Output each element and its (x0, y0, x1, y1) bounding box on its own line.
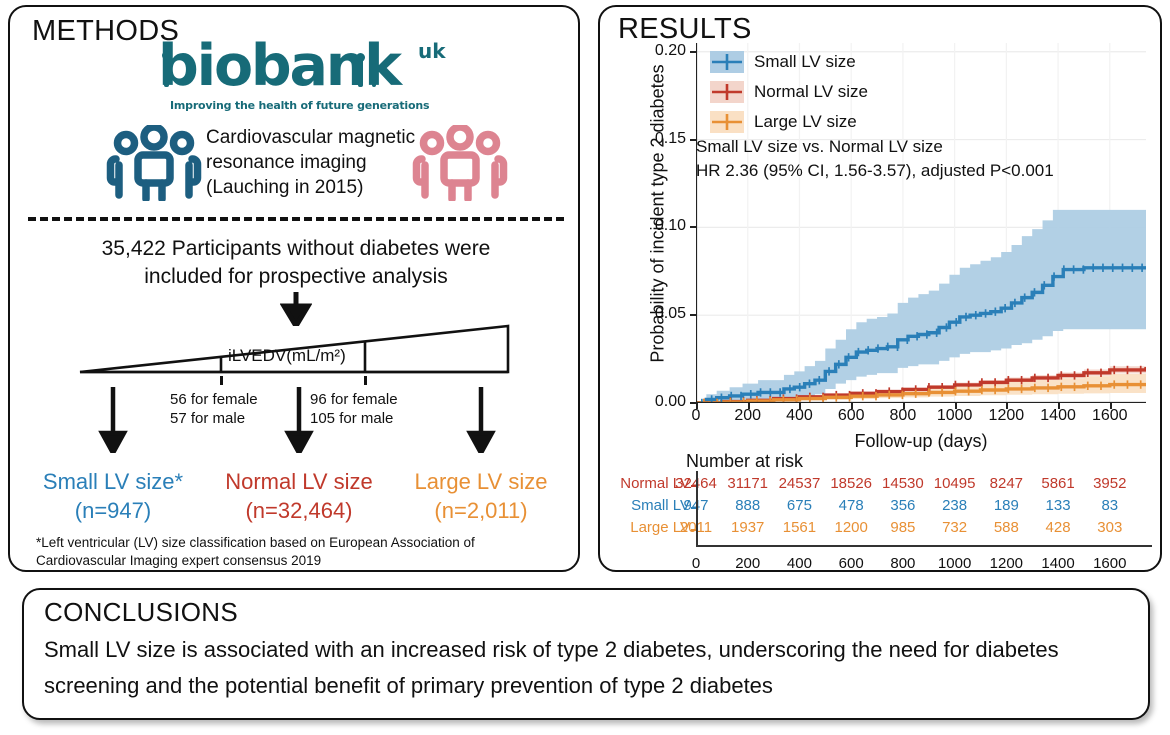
risk-table-left-axis (696, 471, 698, 547)
x-tick-label: 1000 (932, 407, 978, 425)
x-tick-label: 1200 (983, 407, 1029, 425)
poster-root: METHODS biobank uk Improving the health … (0, 0, 1170, 735)
group-small-name: Small LV size* (20, 467, 206, 496)
group-large-n: (n=2,011) (388, 496, 574, 525)
flow-arrow-icon (284, 387, 314, 458)
conclusions-title: CONCLUSIONS (44, 597, 238, 628)
risk-cell: 356 (877, 497, 929, 514)
methods-footnote: *Left ventricular (LV) size classificati… (36, 534, 566, 570)
people-group-icon (106, 125, 202, 206)
legend-swatch-small-lv-size (710, 51, 744, 73)
dashed-divider (28, 217, 564, 221)
risk-cell: 8247 (980, 475, 1032, 492)
cutoff-label-normal-large: 96 for female 105 for male (310, 390, 398, 428)
participants-line-2: included for prospective analysis (10, 263, 582, 291)
risk-table-x-tick-label: 1400 (1032, 555, 1084, 572)
risk-cell: 888 (722, 497, 774, 514)
group-small-n: (n=947) (20, 496, 206, 525)
logo-figure-icon (372, 63, 376, 87)
risk-cell: 675 (773, 497, 825, 514)
y-tick-label: 0.15 (640, 130, 686, 148)
risk-cell: 5861 (1032, 475, 1084, 492)
group-label-normal: Normal LV size (n=32,464) (206, 467, 392, 525)
risk-cell: 303 (1084, 519, 1136, 536)
risk-cell: 3952 (1084, 475, 1136, 492)
risk-table-x-tick-label: 1600 (1084, 555, 1136, 572)
x-tick-mark (955, 403, 957, 409)
risk-cell: 1561 (773, 519, 825, 536)
risk-cell: 83 (1084, 497, 1136, 514)
risk-cell: 14530 (877, 475, 929, 492)
y-tick-label: 0.20 (640, 42, 686, 60)
x-tick-mark (903, 403, 905, 409)
x-tick-mark (1006, 403, 1008, 409)
x-tick-label: 200 (725, 407, 771, 425)
cutoff-b-line-2: 105 for male (310, 409, 398, 428)
uk-biobank-logo: biobank uk Improving the health of futur… (150, 37, 460, 117)
cutoff-b-line-1: 96 for female (310, 390, 398, 409)
risk-table-x-tick-label: 0 (670, 555, 722, 572)
hr-line-1: Small LV size vs. Normal LV size (696, 135, 1054, 159)
risk-cell: 133 (1032, 497, 1084, 514)
people-group-icon (412, 125, 508, 206)
legend-label: Normal LV size (754, 82, 868, 102)
number-at-risk-title: Number at risk (686, 451, 803, 472)
risk-cell: 1937 (722, 519, 774, 536)
wedge-label: iLVEDV(mL/m²) (228, 346, 346, 366)
cmr-line-1: Cardiovascular magnetic (206, 125, 415, 150)
group-normal-name: Normal LV size (206, 467, 392, 496)
logo-figure-icon (356, 53, 365, 62)
cmr-description: Cardiovascular magnetic resonance imagin… (206, 125, 415, 200)
risk-cell: 189 (980, 497, 1032, 514)
x-tick-label: 0 (673, 407, 719, 425)
risk-cell: 588 (980, 519, 1032, 536)
participants-line-1: 35,422 Participants without diabetes wer… (10, 235, 582, 263)
cutoff-a-line-1: 56 for female (170, 390, 258, 409)
conclusions-panel: CONCLUSIONS Small LV size is associated … (22, 588, 1150, 720)
cutoff-label-small-normal: 56 for female 57 for male (170, 390, 258, 428)
risk-table-x-tick-label: 400 (773, 555, 825, 572)
x-tick-mark (1058, 403, 1060, 409)
risk-table-x-tick-label: 1200 (980, 555, 1032, 572)
x-axis-label: Follow-up (days) (696, 431, 1146, 452)
number-at-risk-table: Normal LV3246431171245371852614530104958… (612, 475, 1152, 551)
logo-figure-icon (358, 59, 363, 87)
x-tick-label: 800 (880, 407, 926, 425)
x-tick-label: 600 (828, 407, 874, 425)
cutoff-a-line-2: 57 for male (170, 409, 258, 428)
x-tick-label: 1600 (1087, 407, 1133, 425)
biobank-tagline: Improving the health of future generatio… (170, 99, 429, 112)
x-tick-mark (696, 403, 698, 409)
risk-table-x-tick-label: 200 (722, 555, 774, 572)
ilvedv-wedge-diagram: iLVEDV(mL/m²) (78, 322, 514, 376)
cmr-line-2: resonance imaging (206, 150, 415, 175)
legend-swatch-large-lv-size (710, 111, 744, 133)
group-normal-n: (n=32,464) (206, 496, 392, 525)
biobank-wordmark: biobank (158, 33, 400, 99)
risk-cell: 31171 (722, 475, 774, 492)
risk-table-bottom-axis (696, 545, 1152, 547)
hr-line-2: HR 2.36 (95% CI, 1.56-3.57), adjusted P<… (696, 159, 1054, 183)
legend-label: Small LV size (754, 52, 856, 72)
methods-panel: METHODS biobank uk Improving the health … (8, 5, 580, 572)
risk-cell: 732 (929, 519, 981, 536)
cmr-line-3: (Lauching in 2015) (206, 175, 415, 200)
hazard-ratio-annotation: Small LV size vs. Normal LV size HR 2.36… (696, 135, 1054, 183)
x-tick-mark (748, 403, 750, 409)
risk-cell: 1200 (825, 519, 877, 536)
risk-cell: 24537 (773, 475, 825, 492)
x-tick-mark (799, 403, 801, 409)
risk-table-x-tick-label: 800 (877, 555, 929, 572)
legend-swatch-normal-lv-size (710, 81, 744, 103)
risk-cell: 238 (929, 497, 981, 514)
legend-label: Large LV size (754, 112, 857, 132)
group-large-name: Large LV size (388, 467, 574, 496)
y-tick-label: 0.05 (640, 305, 686, 323)
x-tick-label: 1400 (1035, 407, 1081, 425)
y-tick-label: 0.10 (640, 217, 686, 235)
risk-cell: 478 (825, 497, 877, 514)
risk-table-x-tick-label: 1000 (929, 555, 981, 572)
conclusions-body: Small LV size is associated with an incr… (44, 632, 1134, 704)
participants-statement: 35,422 Participants without diabetes wer… (10, 235, 582, 291)
risk-table-x-tick-label: 600 (825, 555, 877, 572)
risk-cell: 10495 (929, 475, 981, 492)
risk-cell: 428 (1032, 519, 1084, 536)
biobank-uk-superscript: uk (418, 39, 446, 63)
results-panel: RESULTS Probability of incident type 2 d… (598, 5, 1162, 572)
logo-figure-icon (162, 51, 171, 60)
flow-arrow-icon (98, 387, 128, 458)
risk-cell: 985 (877, 519, 929, 536)
x-tick-label: 400 (776, 407, 822, 425)
risk-cell: 18526 (825, 475, 877, 492)
x-tick-mark (1110, 403, 1112, 409)
group-label-large: Large LV size (n=2,011) (388, 467, 574, 525)
group-label-small: Small LV size* (n=947) (20, 467, 206, 525)
cutoff-tick-icon (364, 376, 367, 385)
flow-arrow-icon (466, 387, 496, 458)
logo-figure-icon (164, 57, 169, 87)
x-tick-mark (851, 403, 853, 409)
cutoff-tick-icon (220, 376, 223, 385)
